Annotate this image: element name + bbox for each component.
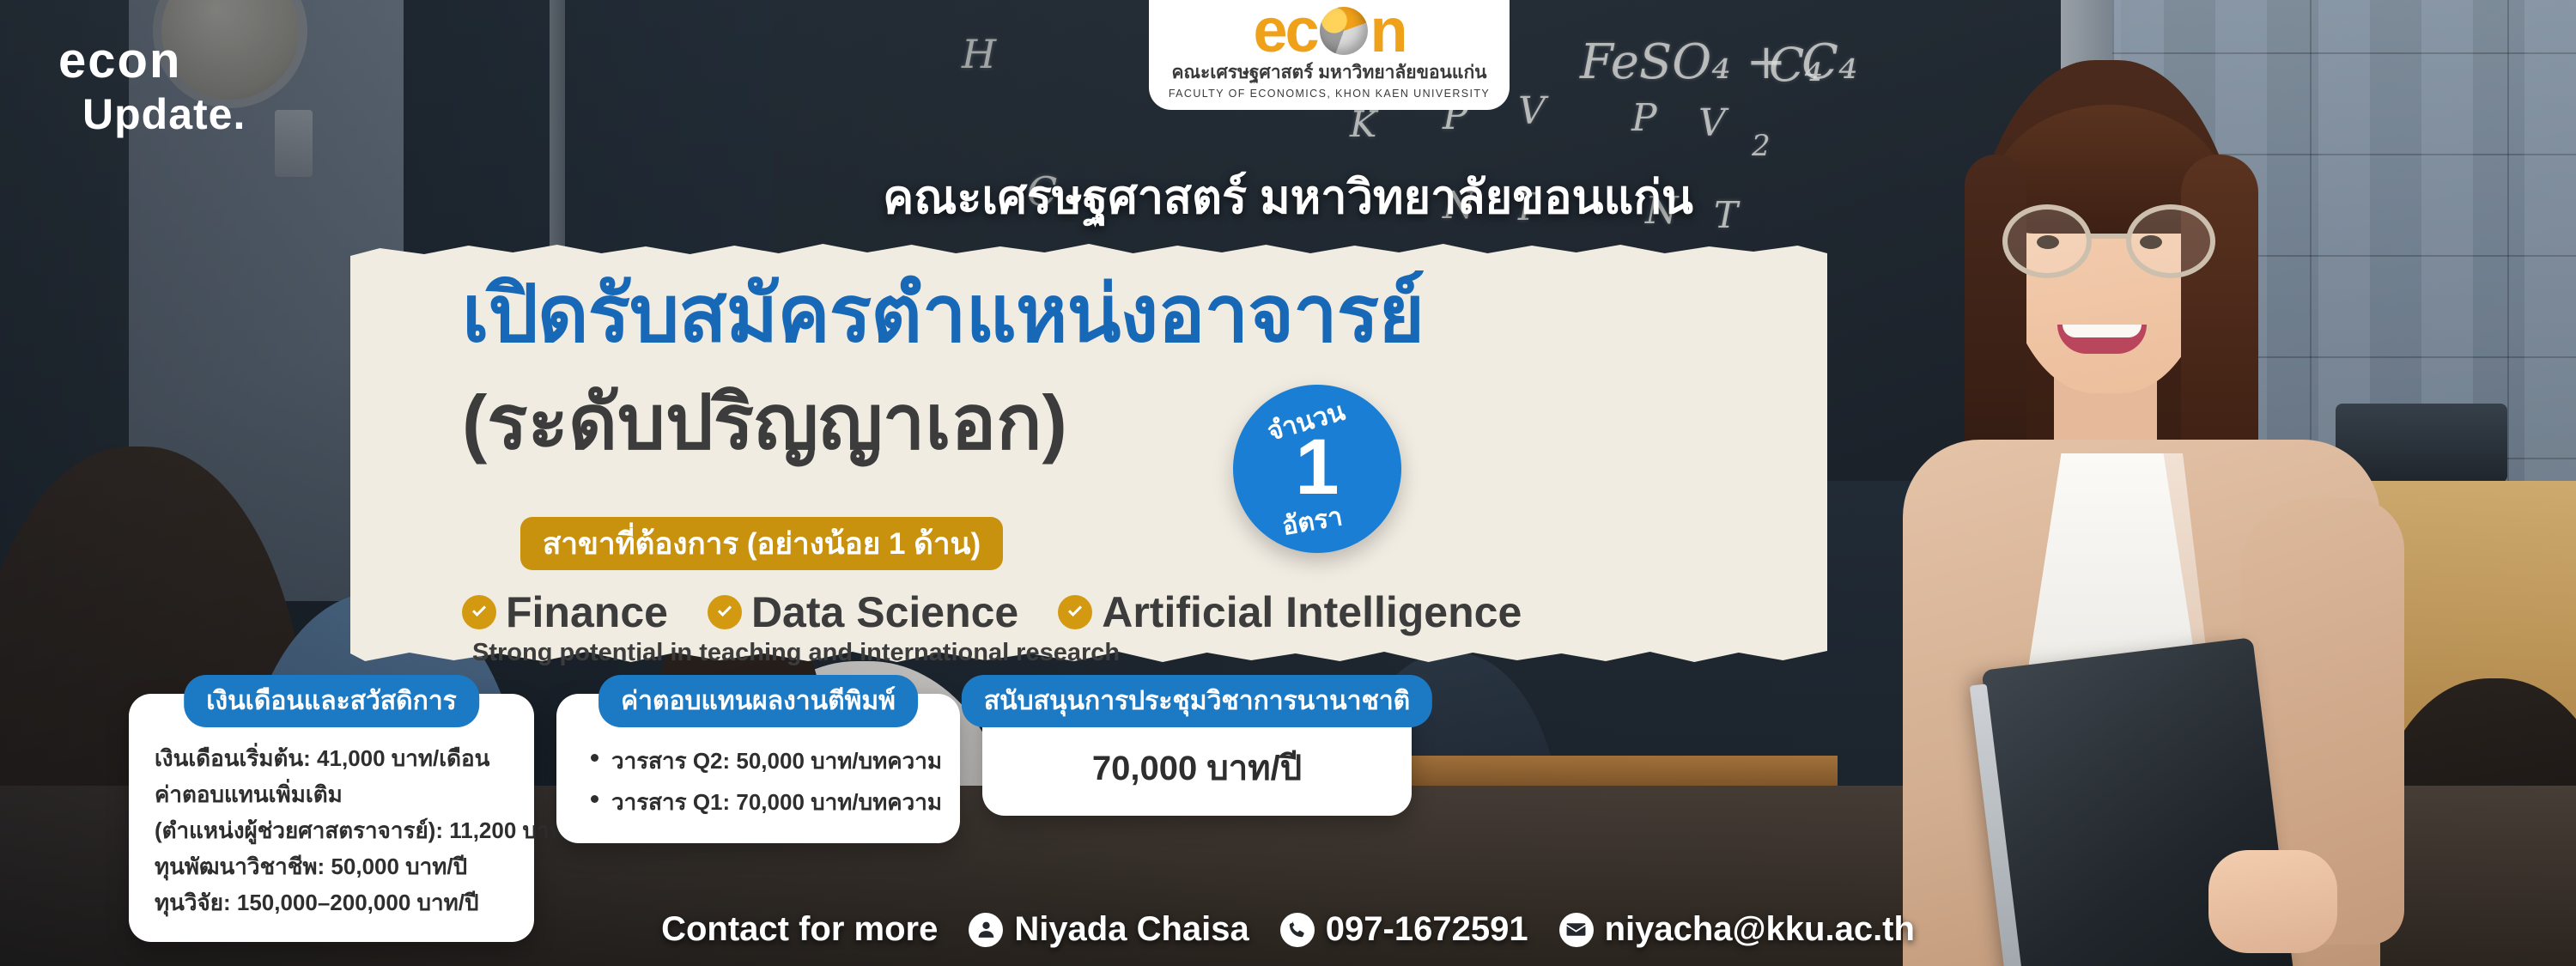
envelope-icon — [1559, 913, 1594, 947]
logo-english-subtitle: FACULTY OF ECONOMICS, KHON KAEN UNIVERSI… — [1169, 88, 1490, 100]
econ-update-watermark: econ Update. — [58, 36, 246, 139]
contact-label: Contact for more — [661, 910, 938, 949]
card-salary-benefits: เงินเดือนและสวัสดิการ เงินเดือนเริ่มต้น:… — [129, 694, 534, 942]
phone-icon — [1280, 913, 1315, 947]
check-icon — [708, 595, 742, 629]
watermark-update-text: Update. — [82, 89, 246, 139]
subject-label: Finance — [506, 587, 668, 637]
subject-list: FinanceData ScienceArtificial Intelligen… — [462, 587, 1522, 637]
panel-content: เปิดรับสมัครตำแหน่งอาจารย์ (ระดับปริญญาเ… — [350, 239, 1827, 668]
badge-bottom-label: อัตรา — [1279, 496, 1346, 547]
badge-number: 1 — [1295, 434, 1339, 501]
subject-item: Artificial Intelligence — [1058, 587, 1522, 637]
info-cards-row: เงินเดือนและสวัสดิการ เงินเดือนเริ่มต้น:… — [0, 675, 2576, 933]
contact-email-address: niyacha@kku.ac.th — [1605, 910, 1915, 949]
contact-label-item: Contact for more — [661, 910, 938, 949]
required-fields-pill: สาขาที่ต้องการ (อย่างน้อย 1 ด้าน) — [520, 517, 1003, 570]
headline-primary: เปิดรับสมัครตำแหน่งอาจารย์ — [462, 273, 1681, 356]
publication-bullet: วารสาร Q1: 70,000 บาท/บทความ — [611, 781, 934, 823]
card-salary-lines: เงินเดือนเริ่มต้น: 41,000 บาท/เดือนค่าตอ… — [155, 740, 508, 921]
subject-item: Data Science — [708, 587, 1018, 637]
econ-word-right: n — [1370, 6, 1406, 57]
card-publication-bullets: วารสาร Q2: 50,000 บาท/บทความวารสาร Q1: 7… — [582, 740, 934, 823]
subtitle-english: Strong potential in teaching and interna… — [472, 639, 1120, 667]
econ-logo-card: ec n คณะเศรษฐศาสตร์ มหาวิทยาลัยขอนแก่น F… — [1149, 0, 1510, 110]
card-conference-amount: 70,000 บาท/ปี — [1008, 740, 1386, 795]
subject-item: Finance — [462, 587, 668, 637]
salary-line: เงินเดือนเริ่มต้น: 41,000 บาท/เดือน — [155, 740, 508, 776]
subject-label: Artificial Intelligence — [1102, 587, 1522, 637]
salary-line: ทุนพัฒนาวิชาชีพ: 50,000 บาท/ปี — [155, 848, 508, 884]
watermark-ec-text: econ — [58, 36, 181, 86]
contact-phone-item[interactable]: 097-1672591 — [1280, 910, 1528, 949]
contact-person-item: Niyada Chaisa — [969, 910, 1249, 949]
card-publication-reward: ค่าตอบแทนผลงานตีพิมพ์ วารสาร Q2: 50,000 … — [556, 694, 960, 843]
headline-secondary: (ระดับปริญญาเอก) — [462, 383, 1067, 462]
logo-thai-subtitle: คณะเศรษฐศาสตร์ มหาวิทยาลัยขอนแก่น — [1171, 58, 1486, 87]
salary-line: (ตำแหน่งผู้ช่วยศาสตราจารย์): 11,200 บาท/… — [155, 812, 508, 848]
banner-stage: FeSO₄ + C₄HHPVKPV2CNTNTC₄ — [0, 0, 2576, 966]
econ-word-left: ec — [1253, 6, 1316, 57]
contact-footer: Contact for more Niyada Chaisa 097-16725… — [0, 910, 2576, 949]
teeth — [2063, 325, 2142, 337]
globe-icon — [1320, 7, 1368, 55]
faculty-name-heading: คณะเศรษฐศาสตร์ มหาวิทยาลัยขอนแก่น — [0, 160, 2576, 234]
glasses-bridge — [2090, 234, 2129, 239]
watermark-econ-wordmark: econ — [58, 36, 246, 86]
card-salary-title: เงินเดือนและสวัสดิการ — [184, 675, 479, 727]
econ-wordmark: ec n — [1253, 6, 1405, 57]
check-icon — [462, 595, 496, 629]
contact-email-item[interactable]: niyacha@kku.ac.th — [1559, 910, 1915, 949]
contact-person-name: Niyada Chaisa — [1014, 910, 1249, 949]
card-conference-title: สนับสนุนการประชุมวิชาการนานาชาติ — [962, 675, 1432, 727]
person-icon — [969, 913, 1003, 947]
publication-bullet: วารสาร Q2: 50,000 บาท/บทความ — [611, 740, 934, 781]
subject-label: Data Science — [751, 587, 1018, 637]
salary-line: ค่าตอบแทนเพิ่มเติม — [155, 776, 508, 812]
check-icon — [1058, 595, 1092, 629]
card-conference-support: สนับสนุนการประชุมวิชาการนานาชาติ 70,000 … — [982, 694, 1412, 816]
card-publication-title: ค่าตอบแทนผลงานตีพิมพ์ — [598, 675, 918, 727]
vacancy-count-badge: จำนวน 1 อัตรา — [1233, 385, 1401, 553]
contact-phone-number: 097-1672591 — [1326, 910, 1528, 949]
